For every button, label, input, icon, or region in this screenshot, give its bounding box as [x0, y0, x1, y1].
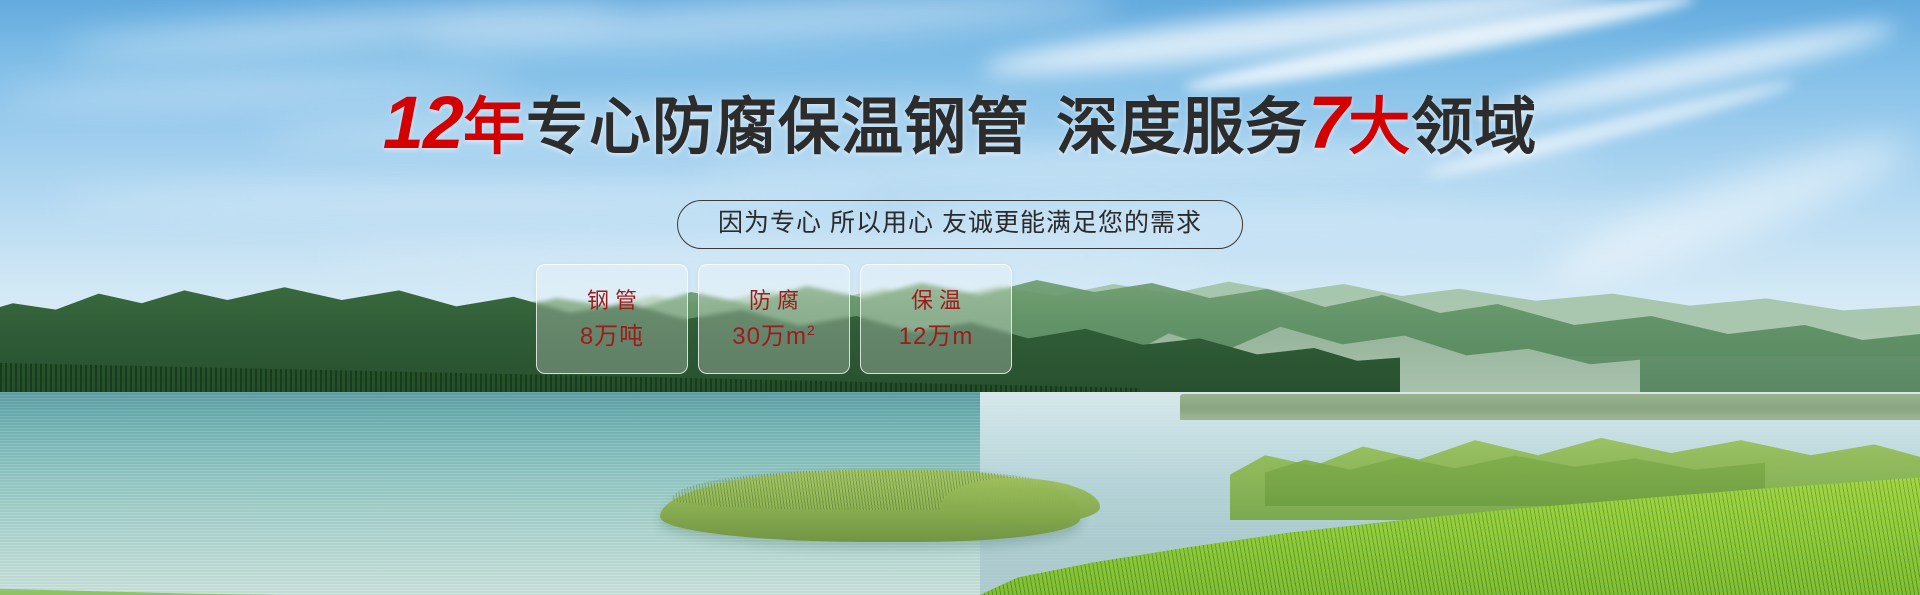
stat-card-insulation[interactable]: 保温 12万m — [860, 264, 1012, 374]
stat-card-anticorrosion[interactable]: 防腐 30万m2 — [698, 264, 850, 374]
headline-fields-number: 7 — [1308, 81, 1348, 164]
stat-card-value: 12万m — [899, 325, 974, 349]
stat-card-steel-pipe[interactable]: 钢管 8万吨 — [536, 264, 688, 374]
headline-service-text: 深度服务 — [1056, 93, 1308, 162]
stat-card-value: 8万吨 — [580, 325, 644, 349]
headline-fields-unit: 大 — [1348, 93, 1411, 162]
headline-years-number: 12 — [383, 81, 463, 164]
stat-card-value-superscript: 2 — [807, 322, 816, 338]
stat-card-title: 防腐 — [743, 290, 805, 312]
stat-card-value-text: 8万吨 — [580, 323, 644, 350]
stat-card-title: 钢管 — [581, 290, 643, 312]
lake-water — [0, 392, 1920, 595]
banner-subtitle-pill: 因为专心 所以用心 友诚更能满足您的需求 — [677, 200, 1243, 249]
headline-fields-text: 领域 — [1411, 93, 1537, 162]
stat-card-title: 保温 — [905, 290, 967, 312]
banner-headline: 12年专心防腐保温钢管深度服务7大领域 — [0, 86, 1920, 160]
stat-card-value: 30万m2 — [732, 325, 815, 349]
stat-card-group: 钢管 8万吨 防腐 30万m2 保温 12万m — [536, 264, 1012, 374]
promo-banner: 12年专心防腐保温钢管深度服务7大领域 因为专心 所以用心 友诚更能满足您的需求… — [0, 0, 1920, 595]
headline-years-unit: 年 — [463, 93, 526, 162]
headline-main-text: 专心防腐保温钢管 — [526, 93, 1030, 162]
stat-card-value-text: 30万m — [732, 323, 807, 350]
stat-card-value-text: 12万m — [899, 323, 974, 350]
